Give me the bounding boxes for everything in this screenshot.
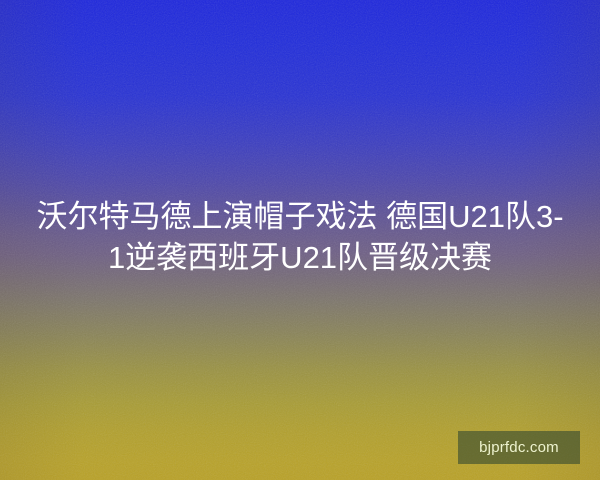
headline-text: 沃尔特马德上演帽子戏法 德国U21队3- 1逆袭西班牙U21队晋级决赛 bbox=[0, 196, 600, 278]
watermark-label: bjprfdc.com bbox=[479, 440, 559, 455]
headline-line-1: 沃尔特马德上演帽子戏法 德国U21队3- bbox=[14, 196, 586, 237]
watermark-badge: bjprfdc.com bbox=[458, 431, 580, 464]
cover-image-canvas: 沃尔特马德上演帽子戏法 德国U21队3- 1逆袭西班牙U21队晋级决赛 bjpr… bbox=[0, 0, 600, 480]
headline-line-2: 1逆袭西班牙U21队晋级决赛 bbox=[14, 237, 586, 278]
